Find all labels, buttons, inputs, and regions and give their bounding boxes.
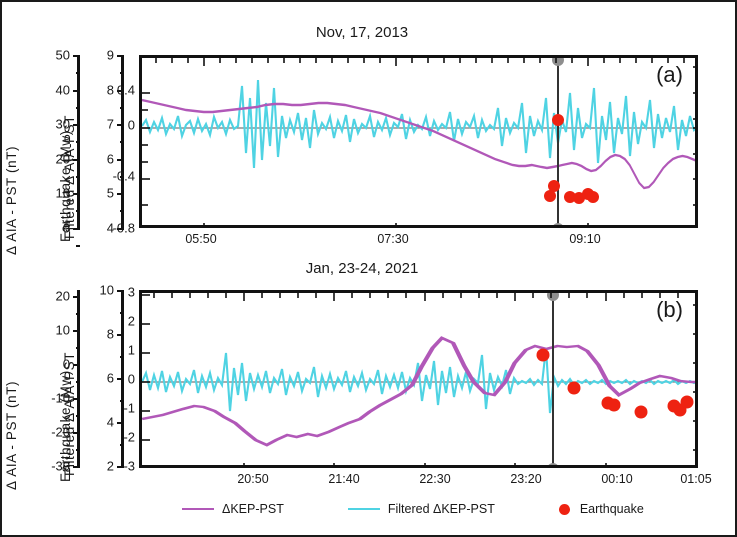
panel-b-xtick-label: 23:20 [510,472,541,486]
panel-b-letter: (b) [656,297,683,323]
ytick-label: 0 [128,372,135,387]
ytick-label: -2 [123,430,135,445]
ytick-label: -0.4 [113,169,135,184]
panel-a-canvas [142,58,698,228]
panel-b: Jan, 23-24, 2021 20 10 0 -10 -20 -30 Δ A… [2,252,737,492]
ytick-label: 3 [128,285,135,300]
panel-a-yaxis-nt-title: Δ AIA - PST (nT) [4,146,19,255]
ytick-label: 1 [128,343,135,358]
panel-a-yaxis-filtered: 0.4 0 -0.4 -0.8 Filtered Δ AIA-PST [84,55,139,228]
panel-b-canvas [142,293,698,468]
panel-a-xtick-label: 07:30 [377,232,408,246]
event-marker-bottom-b [547,463,559,468]
ytick-label: 0 [128,117,135,132]
panel-b-yaxis-filtered-title: Filtered Δ AIA-PST [62,352,77,476]
panel-a: Nov, 17, 2013 50 40 30 20 10 0 Δ AIA - P… [2,2,737,252]
ytick-label: 0.4 [117,82,135,97]
panel-b-title: Jan, 23-24, 2021 [237,260,487,277]
figure-legend: ΔKEP-PST Filtered ΔKEP-PST Earthquake [182,502,644,516]
panel-a-xtick-label: 09:10 [569,232,600,246]
legend-item-earthquake: Earthquake [559,502,644,516]
panel-a-yaxis-filtered-title: Filtered Δ AIA-PST [62,115,77,239]
panel-b-xtick-label: 00:10 [601,472,632,486]
panel-b-yaxis-filtered: 3 2 1 0 -1 -2 -3 Filtered Δ AIA-PST [84,290,139,468]
legend-label: Earthquake [580,502,644,516]
panel-a-xtick-label: 05:50 [185,232,216,246]
panel-b-xtick-label: 22:30 [419,472,450,486]
panel-a-title: Nov, 17, 2013 [242,24,482,41]
panel-b-plot[interactable]: (b) [139,290,698,468]
cyan-line-swatch [348,508,380,511]
panel-b-xtick-label: 01:05 [680,472,711,486]
ytick-label: -3 [123,459,135,474]
legend-label: Filtered ΔKEP-PST [388,502,495,516]
event-marker-top-b [547,293,559,301]
panel-b-xtick-label: 21:40 [328,472,359,486]
red-dot-swatch [559,504,570,515]
legend-item-delta-kep-pst: ΔKEP-PST [182,502,284,516]
legend-label: ΔKEP-PST [222,502,284,516]
panel-b-yaxis-nt-title: Δ AIA - PST (nT) [4,381,19,490]
event-marker-bottom-a [552,223,564,228]
figure-frame: Nov, 17, 2013 50 40 30 20 10 0 Δ AIA - P… [0,0,737,537]
legend-item-filtered-delta-kep-pst: Filtered ΔKEP-PST [348,502,495,516]
purple-line-swatch [182,508,214,511]
event-marker-top-a [552,58,564,66]
ytick-label: -0.8 [113,221,135,236]
ytick-label: -1 [123,401,135,416]
panel-b-xtick-label: 20:50 [237,472,268,486]
panel-a-plot[interactable]: (a) [139,55,698,228]
ytick-label: 2 [128,314,135,329]
panel-a-letter: (a) [656,62,683,88]
